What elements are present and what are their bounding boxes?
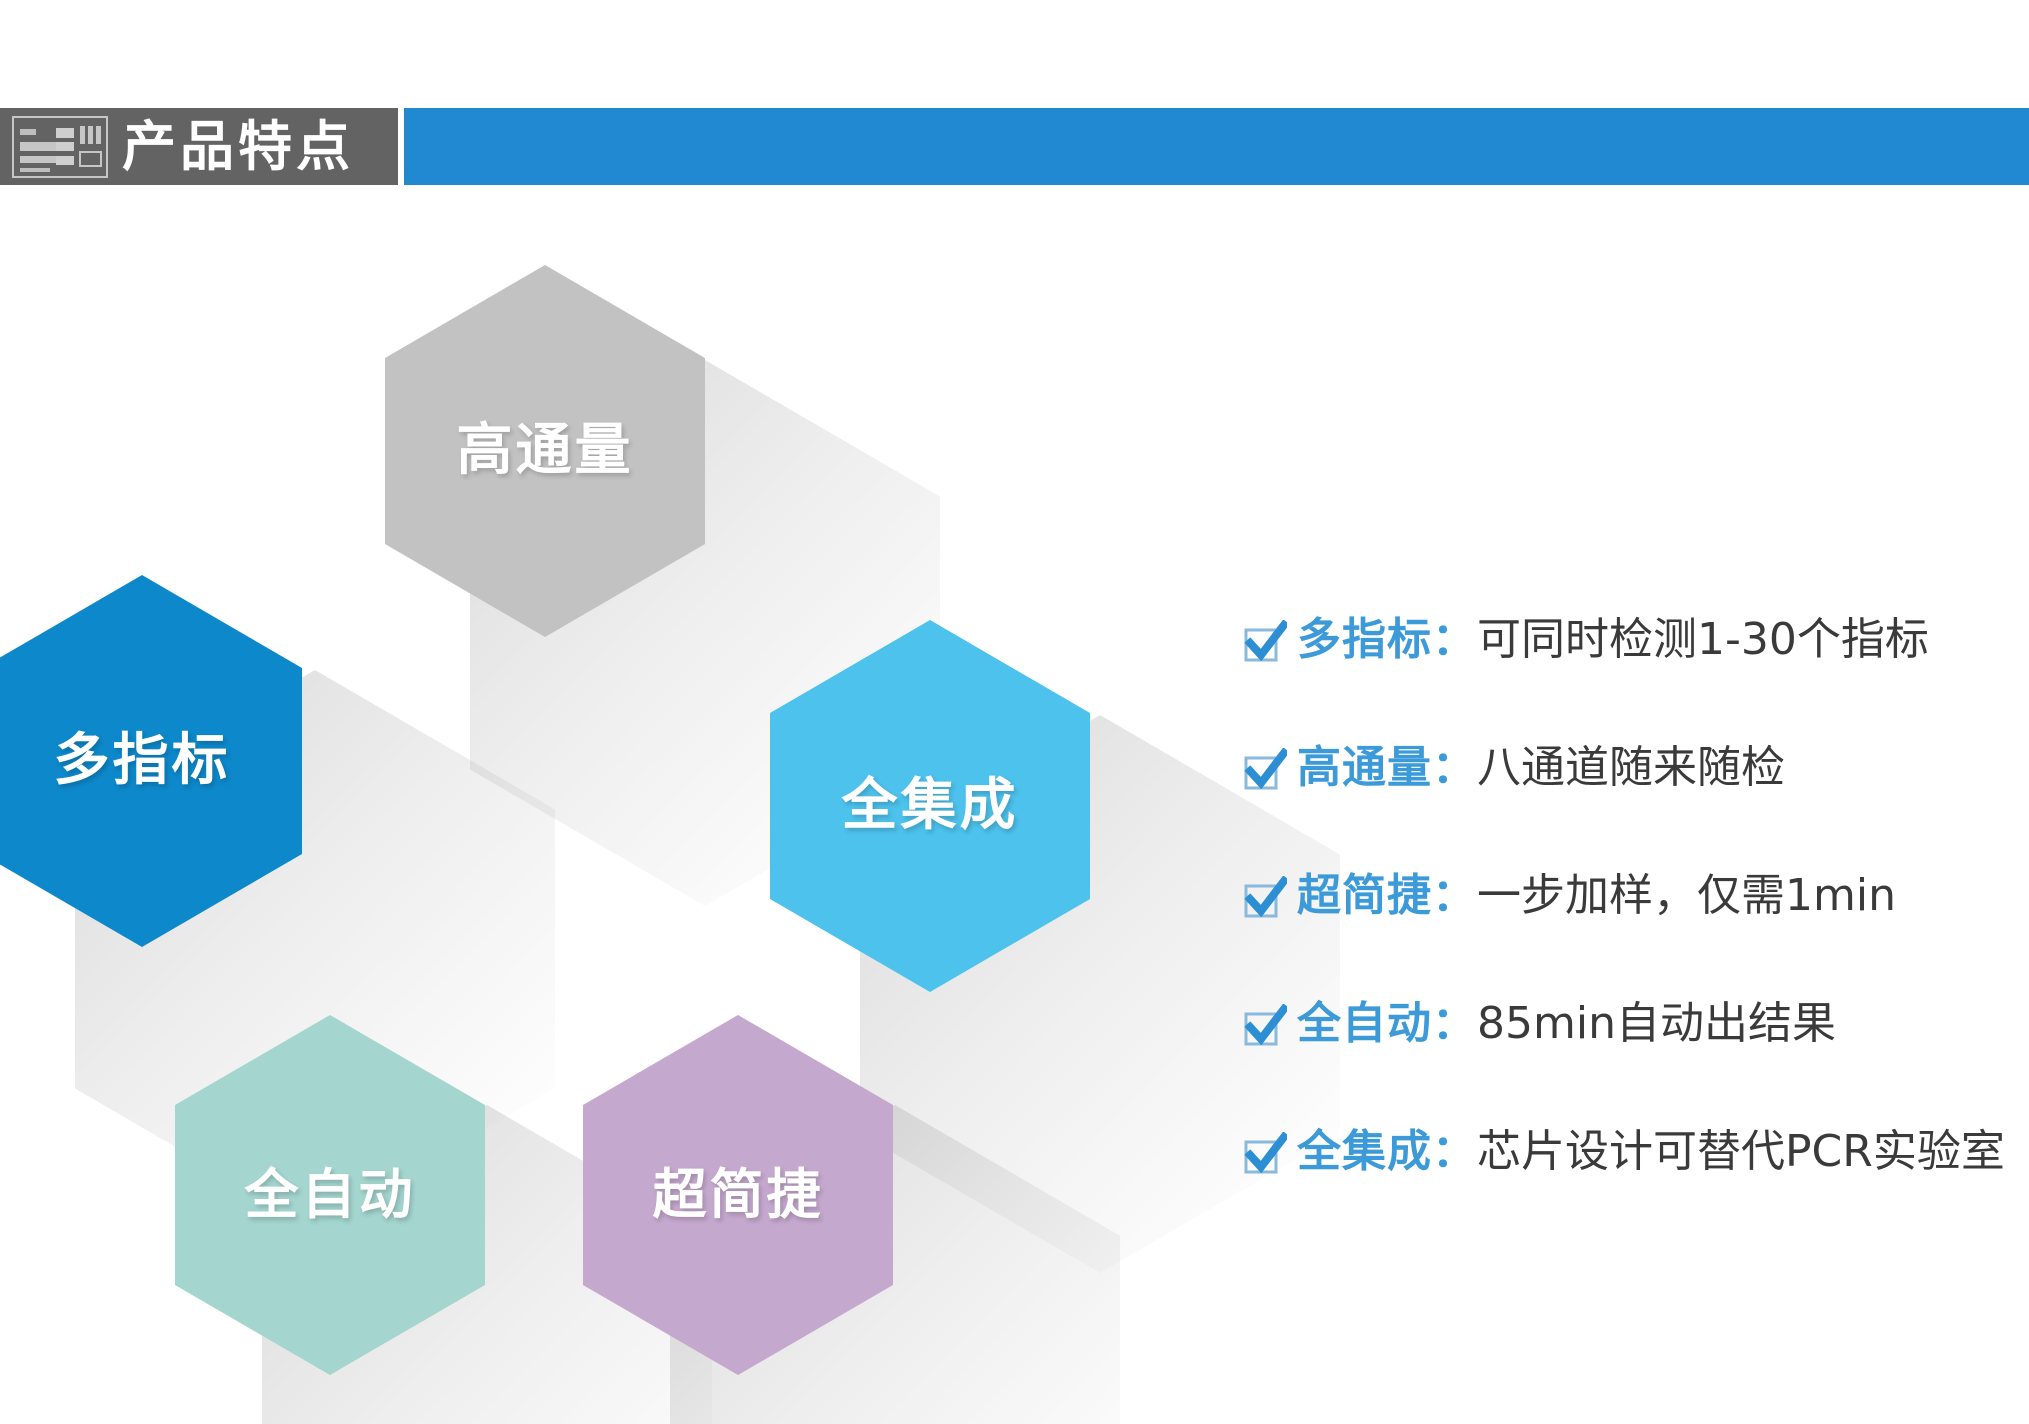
feature-description: 可同时检测1-30个指标 xyxy=(1477,618,1929,662)
feature-list: 多指标： 可同时检测1-30个指标 高通量： 八通道随来随检 超简捷： 一步加样 xyxy=(1243,608,2023,1184)
feature-term: 全集成： xyxy=(1297,1130,1477,1174)
product-features-slide: 产品特点 高通量 多指标 全集成 全自动 超简捷 xyxy=(0,0,2029,1424)
list-item: 全自动： 85min自动出结果 xyxy=(1243,992,2023,1056)
checkbox-checked-icon xyxy=(1243,876,1287,920)
hexagon-label: 多指标 xyxy=(54,733,231,789)
hexagon-label: 高通量 xyxy=(457,423,634,479)
checkbox-checked-icon xyxy=(1243,1132,1287,1176)
hexagon-label: 超简捷 xyxy=(653,1168,824,1222)
checkbox-checked-icon xyxy=(1243,1004,1287,1048)
checkbox-checked-icon xyxy=(1243,620,1287,664)
hexagon-cluster: 高通量 多指标 全集成 全自动 超简捷 xyxy=(0,210,1180,1370)
page-title: 产品特点 xyxy=(122,120,354,174)
feature-description: 85min自动出结果 xyxy=(1477,1002,1836,1046)
feature-term: 超简捷： xyxy=(1297,874,1477,918)
feature-description: 八通道随来随检 xyxy=(1477,746,1785,790)
list-item: 全集成： 芯片设计可替代PCR实验室 xyxy=(1243,1120,2023,1184)
section-header: 产品特点 xyxy=(0,108,2029,185)
header-blue-bar xyxy=(404,108,2029,185)
checkbox-checked-icon xyxy=(1243,748,1287,792)
list-item: 超简捷： 一步加样，仅需1min xyxy=(1243,864,2023,928)
hexagon-label: 全自动 xyxy=(245,1168,416,1222)
feature-term: 全自动： xyxy=(1297,1002,1477,1046)
feature-description: 一步加样，仅需1min xyxy=(1477,874,1896,918)
circuit-chip-icon xyxy=(12,116,108,178)
feature-term: 多指标： xyxy=(1297,618,1477,662)
list-item: 高通量： 八通道随来随检 xyxy=(1243,736,2023,800)
feature-description: 芯片设计可替代PCR实验室 xyxy=(1477,1130,2005,1174)
list-item: 多指标： 可同时检测1-30个指标 xyxy=(1243,608,2023,672)
hexagon-label: 全集成 xyxy=(842,778,1019,834)
header-badge: 产品特点 xyxy=(0,108,398,185)
feature-term: 高通量： xyxy=(1297,746,1477,790)
